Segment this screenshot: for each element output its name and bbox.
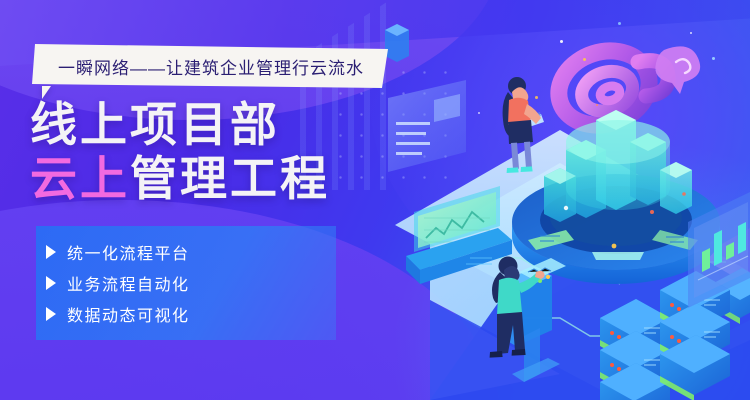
headline-accent: 云上: [30, 152, 130, 205]
feature-bullet-list: 统一化流程平台 业务流程自动化 数据动态可视化: [46, 236, 190, 329]
headline-rest: 管理工程: [130, 152, 330, 205]
sparkle-dot: [583, 58, 586, 61]
server-rack-left: [600, 299, 670, 400]
platform-dot: [612, 244, 617, 249]
sparkle-dot: [690, 32, 692, 34]
sparkle-dot: [560, 40, 563, 43]
triangle-right-icon: [46, 245, 56, 259]
platform-dot: [650, 210, 654, 214]
platform-dot: [682, 192, 686, 196]
tagline-ribbon: 一瞬网络——让建筑企业管理行云流水: [32, 44, 388, 88]
list-item: 数据动态可视化: [46, 298, 190, 329]
list-item: 统一化流程平台: [46, 236, 190, 267]
platform-dot: [564, 206, 568, 210]
triangle-right-icon: [46, 307, 56, 321]
sparkle-dot: [596, 104, 598, 106]
floating-ui-card: [388, 80, 466, 172]
bullet-label: 数据动态可视化: [67, 302, 190, 326]
headline-line-1: 线上项目部: [30, 100, 330, 150]
mini-pillar: [385, 24, 409, 62]
sparkle-dot: [618, 22, 621, 25]
triangle-right-icon: [46, 276, 56, 290]
list-item: 业务流程自动化: [46, 267, 190, 298]
glass-cylinder: [566, 120, 670, 210]
sparkle-dot: [535, 96, 538, 99]
headline-line-2: 云上管理工程: [30, 154, 330, 204]
headline-block: 线上项目部 云上管理工程: [30, 100, 330, 204]
tagline-text: 一瞬网络——让建筑企业管理行云流水: [58, 54, 364, 79]
promo-banner: 一瞬网络——让建筑企业管理行云流水 线上项目部 云上管理工程 统一化流程平台 业…: [0, 0, 750, 400]
bullet-label: 业务流程自动化: [67, 271, 190, 295]
bullet-label: 统一化流程平台: [67, 240, 190, 264]
sparkle-dot: [478, 112, 480, 114]
sparkle-dot: [712, 57, 715, 60]
